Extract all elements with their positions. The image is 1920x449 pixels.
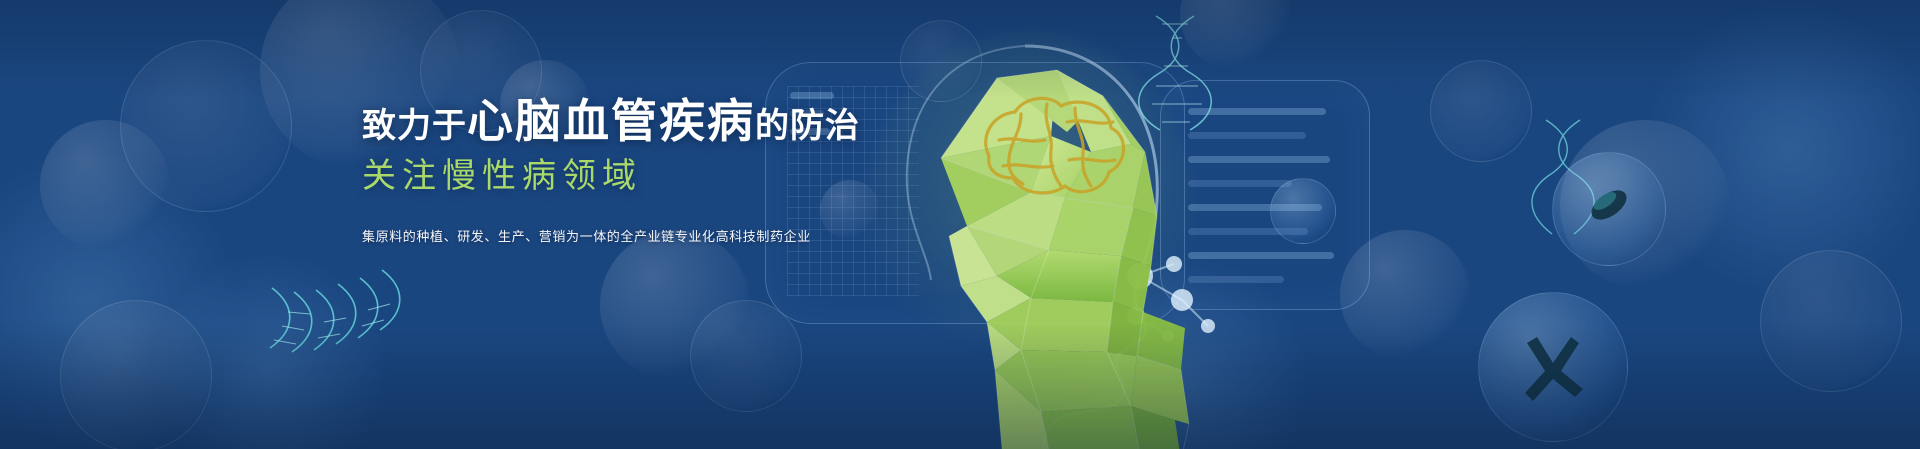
cell-illustration <box>1552 152 1666 266</box>
cell-illustration <box>1478 292 1628 442</box>
bokeh-circle <box>600 230 750 380</box>
hero-banner: 致力于心脑血管疾病的防治 关注慢性病领域 集原料的种植、研发、生产、营销为一体的… <box>0 0 1920 449</box>
bokeh-circle <box>150 250 390 449</box>
bokeh-circle <box>1430 60 1532 162</box>
bokeh-circle <box>0 150 240 449</box>
hero-subline: 关注慢性病领域 <box>362 156 1122 197</box>
bokeh-circle <box>690 300 802 412</box>
bokeh-circle <box>40 120 170 250</box>
bokeh-circle <box>1340 230 1470 360</box>
bokeh-circle <box>120 40 292 212</box>
headline-part-3: 的防治 <box>755 107 860 145</box>
hero-tagline: 集原料的种植、研发、生产、营销为一体的全产业链专业化高科技制药企业 <box>362 226 1122 245</box>
dna-helix-icon <box>262 252 412 362</box>
headline-part-2: 心脑血管疾病 <box>467 95 755 147</box>
headline-part-1: 致力于 <box>362 107 467 145</box>
hero-headline: 致力于心脑血管疾病的防治 <box>362 96 1122 148</box>
hero-copy: 致力于心脑血管疾病的防治 关注慢性病领域 集原料的种植、研发、生产、营销为一体的… <box>362 96 1122 245</box>
bokeh-circle <box>1640 0 1920 300</box>
bokeh-circle <box>60 300 212 449</box>
bokeh-circle <box>1760 250 1902 392</box>
